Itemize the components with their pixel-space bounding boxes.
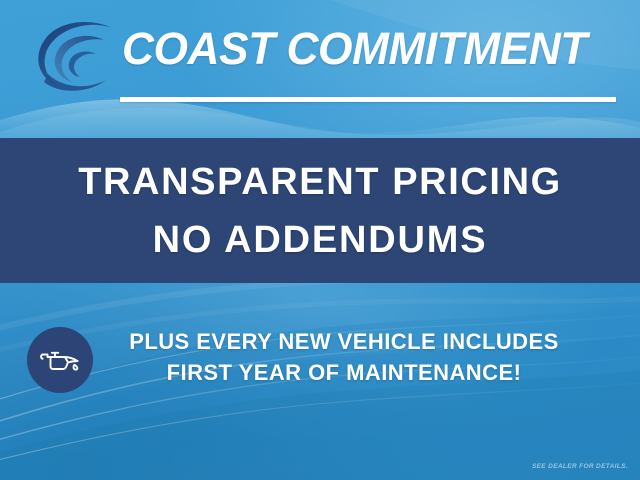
- wave-swirl-logo-icon: [26, 16, 130, 92]
- maintenance-callout: PLUS EVERY NEW VEHICLE INCLUDES FIRST YE…: [0, 322, 640, 398]
- disclaimer-text: SEE DEALER FOR DETAILS.: [532, 462, 628, 471]
- header-divider: [120, 97, 616, 102]
- promo-headline-secondary: NO ADDENDUMS: [153, 215, 488, 265]
- coast-commitment-ad: COAST COMMITMENT TRANSPARENT PRICING NO …: [0, 0, 640, 480]
- callout-line-primary: PLUS EVERY NEW VEHICLE INCLUDES: [104, 326, 584, 357]
- promo-headline-primary: TRANSPARENT PRICING: [78, 157, 562, 207]
- oil-can-badge: [27, 327, 93, 393]
- callout-line-secondary: FIRST YEAR OF MAINTENANCE!: [104, 357, 584, 388]
- callout-text-block: PLUS EVERY NEW VEHICLE INCLUDES FIRST YE…: [104, 326, 584, 388]
- promo-banner: TRANSPARENT PRICING NO ADDENDUMS: [0, 138, 640, 283]
- oil-can-icon: [39, 345, 81, 375]
- header: COAST COMMITMENT: [0, 0, 640, 112]
- brand-title: COAST COMMITMENT: [122, 21, 615, 77]
